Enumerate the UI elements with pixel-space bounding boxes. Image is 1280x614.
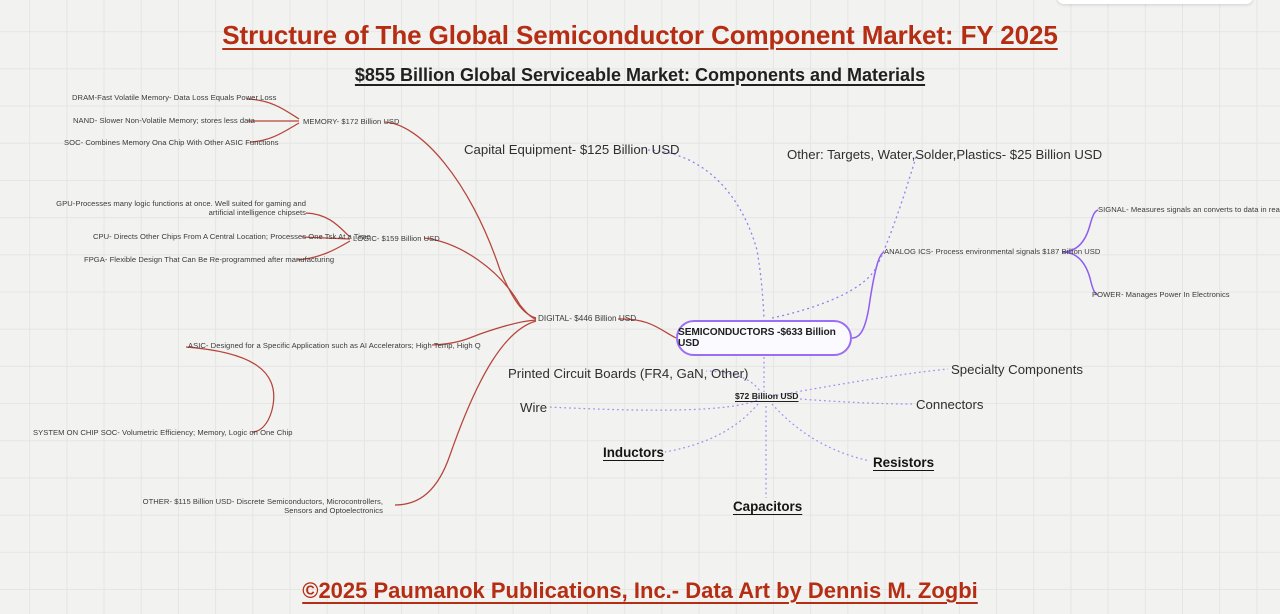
passives-hub-label[interactable]: $72 Billion USD bbox=[735, 391, 799, 401]
materials-edges bbox=[648, 150, 916, 318]
memory-node[interactable]: MEMORY- $172 Billion USD bbox=[303, 117, 400, 126]
logic-item-cpu: CPU- Directs Other Chips From A Central … bbox=[93, 232, 371, 241]
passive-item-connectors[interactable]: Connectors bbox=[916, 397, 983, 413]
analog-item-signal: SIGNAL- Measures signals an converts to … bbox=[1098, 205, 1280, 214]
core-node-semiconductors[interactable]: SEMICONDUCTORS -$633 Billion USD bbox=[676, 320, 852, 356]
passive-item-wire[interactable]: Wire bbox=[520, 400, 547, 416]
passive-item-resistors[interactable]: Resistors bbox=[873, 455, 934, 470]
memory-item-nand: NAND- Slower Non-Volatile Memory; stores… bbox=[73, 116, 255, 125]
analog-item-power: POWER- Manages Power In Electronics bbox=[1092, 290, 1230, 299]
passive-item-pcb[interactable]: Printed Circuit Boards (FR4, GaN, Other) bbox=[508, 366, 748, 382]
passive-item-inductors[interactable]: Inductors bbox=[603, 445, 664, 460]
page-title: Structure of The Global Semiconductor Co… bbox=[0, 20, 1280, 51]
analog-edges bbox=[852, 210, 1098, 338]
other-materials-node[interactable]: Other: Targets, Water,Solder,Plastics- $… bbox=[787, 147, 1102, 163]
footer-credit: ©2025 Paumanok Publications, Inc.- Data … bbox=[0, 578, 1280, 604]
digital-node[interactable]: DIGITAL- $446 Billion USD bbox=[538, 314, 636, 324]
capital-equipment-node[interactable]: Capital Equipment- $125 Billion USD bbox=[464, 142, 680, 158]
memory-item-soc: SOC- Combines Memory Ona Chip With Other… bbox=[64, 138, 279, 147]
memory-item-dram: DRAM-Fast Volatile Memory- Data Loss Equ… bbox=[72, 93, 276, 102]
other-semiconductors-node[interactable]: OTHER- $115 Billion USD- Discrete Semico… bbox=[135, 497, 383, 516]
passive-item-capacitors[interactable]: Capacitors bbox=[733, 499, 802, 514]
analog-ics-node[interactable]: ANALOG ICS- Process environmental signal… bbox=[884, 247, 1100, 256]
page-subtitle: $855 Billion Global Serviceable Market: … bbox=[0, 65, 1280, 86]
mindmap-canvas: Structure of The Global Semiconductor Co… bbox=[0, 0, 1280, 614]
logic-node[interactable]: LOGIC- $159 Billion USD bbox=[353, 234, 440, 243]
logic-item-fpga: FPGA- Flexible Design That Can Be Re-pro… bbox=[84, 255, 334, 264]
asic-node[interactable]: ASIC- Designed for a Specific Applicatio… bbox=[188, 341, 481, 350]
logic-item-gpu: GPU-Processes many logic functions at on… bbox=[28, 199, 306, 218]
system-on-chip-node[interactable]: SYSTEM ON CHIP SOC- Volumetric Efficienc… bbox=[33, 428, 293, 437]
passive-item-specialty-components[interactable]: Specialty Components bbox=[951, 362, 1083, 378]
